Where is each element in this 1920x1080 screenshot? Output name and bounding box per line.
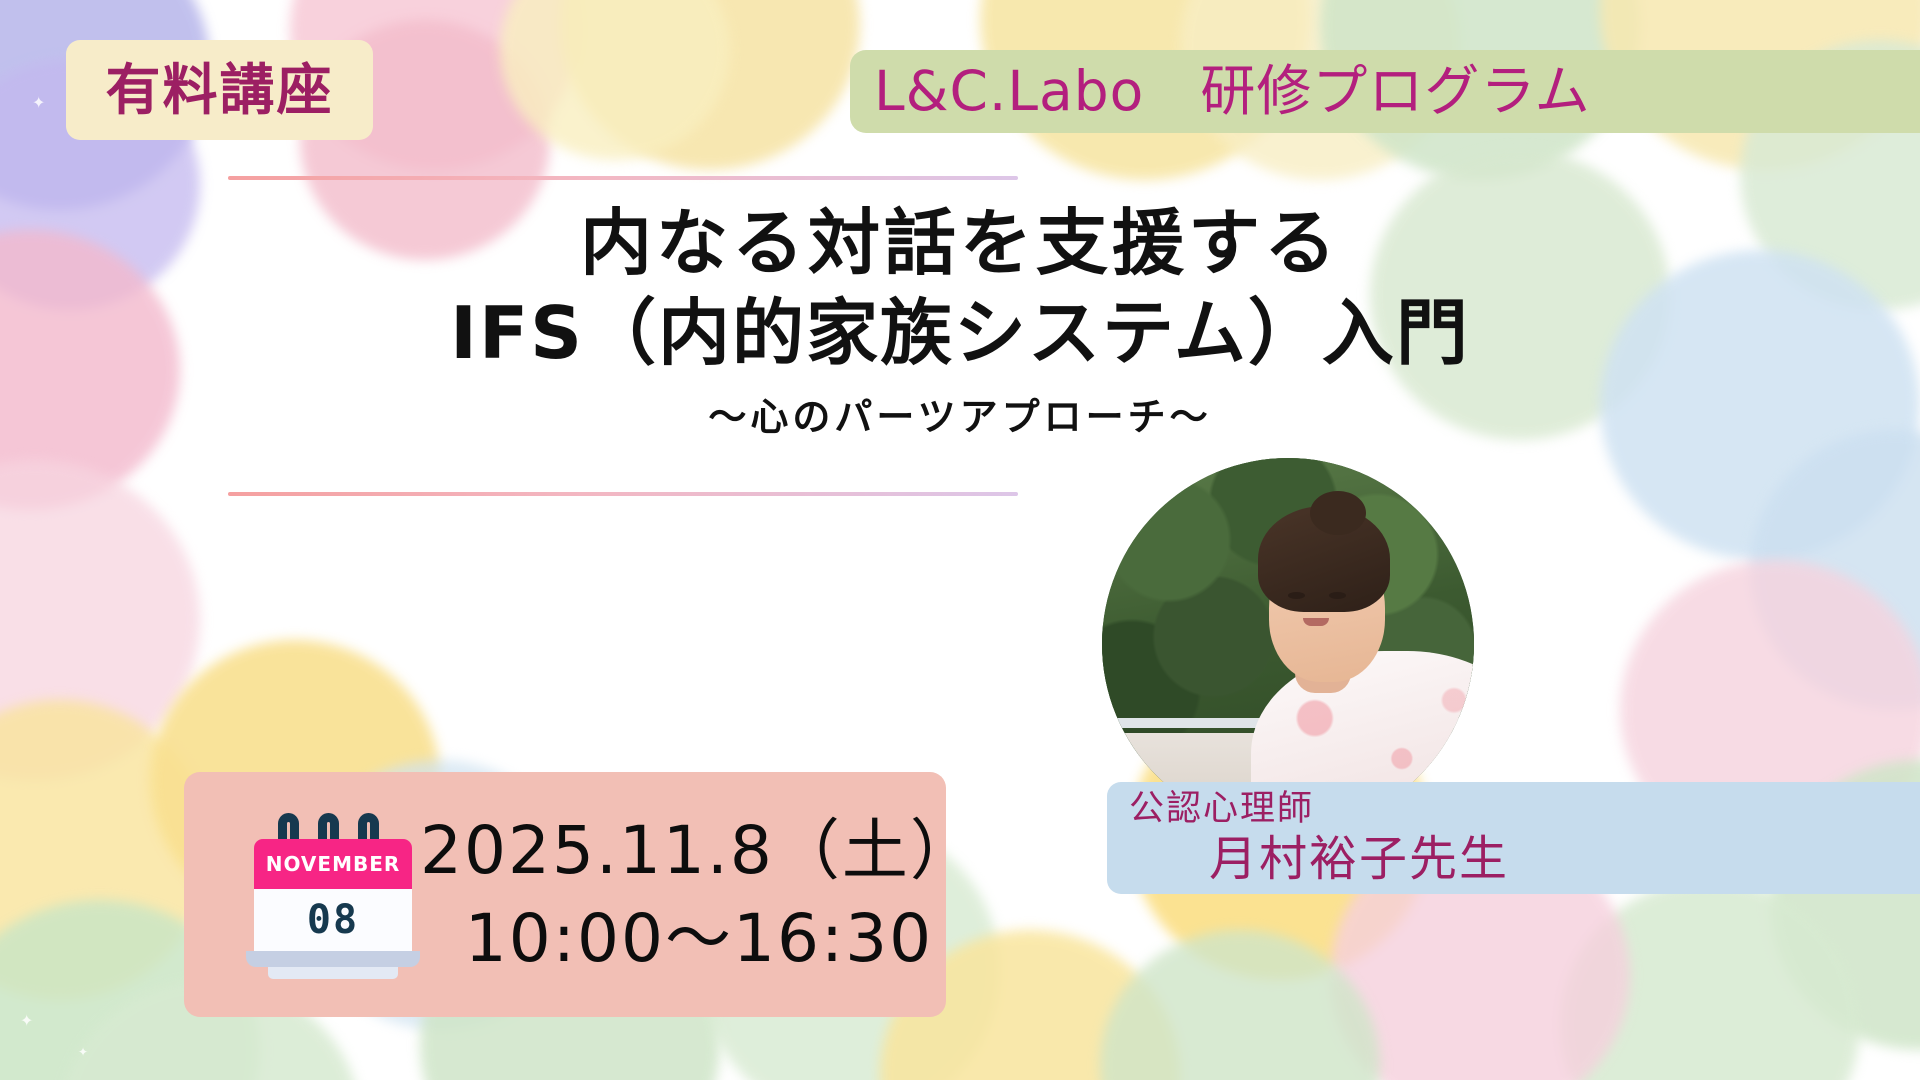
event-date: 2025.11.8（土）	[420, 807, 978, 894]
paid-course-badge: 有料講座	[66, 40, 373, 140]
title-block: 内なる対話を支援する IFS（内的家族システム）入門 〜心のパーツアプローチ〜	[0, 205, 1920, 441]
sparkle-icon: ✦	[20, 1014, 33, 1030]
calendar-icon: NOVEMBER 08	[246, 815, 420, 975]
photo-eye-left	[1288, 592, 1305, 599]
calendar-tray	[246, 951, 420, 967]
sparkle-icon: ✦	[78, 1046, 88, 1058]
presenter-name-box: 公認心理師 月村裕子先生	[1107, 782, 1920, 894]
title-line-2: IFS（内的家族システム）入門	[0, 295, 1920, 371]
calendar-month-label: NOVEMBER	[266, 852, 401, 876]
title-subtitle: 〜心のパーツアプローチ〜	[0, 386, 1920, 441]
event-time: 10:00〜16:30	[420, 895, 978, 982]
presenter-name: 月村裕子先生	[1129, 832, 1509, 887]
calendar-day-area: 08	[254, 889, 412, 951]
photo-mouth	[1303, 618, 1329, 626]
program-label: L&C.Labo 研修プログラム	[874, 64, 1591, 119]
title-divider-top	[228, 176, 1018, 180]
calendar-month-band: NOVEMBER	[254, 839, 412, 889]
presenter-role: 公認心理師	[1129, 789, 1314, 829]
presenter-photo	[1102, 458, 1474, 830]
calendar-day-label: 08	[307, 897, 359, 943]
title-line-1: 内なる対話を支援する	[0, 205, 1920, 281]
calendar-base	[268, 967, 398, 979]
schedule-box: NOVEMBER 08 2025.11.8（土） 10:00〜16:30	[184, 772, 946, 1017]
title-divider-bottom	[228, 492, 1018, 496]
photo-eye-right	[1329, 592, 1346, 599]
schedule-text: 2025.11.8（土） 10:00〜16:30	[420, 807, 1018, 981]
paid-course-label: 有料講座	[105, 63, 333, 118]
sparkle-icon: ✦	[32, 96, 45, 112]
flyer-canvas: ✦ ✦ ✦ ✦ ✦ 有料講座 L&C.Labo 研修プログラム 内なる対話を支援…	[0, 0, 1920, 1080]
program-badge: L&C.Labo 研修プログラム	[850, 50, 1920, 133]
